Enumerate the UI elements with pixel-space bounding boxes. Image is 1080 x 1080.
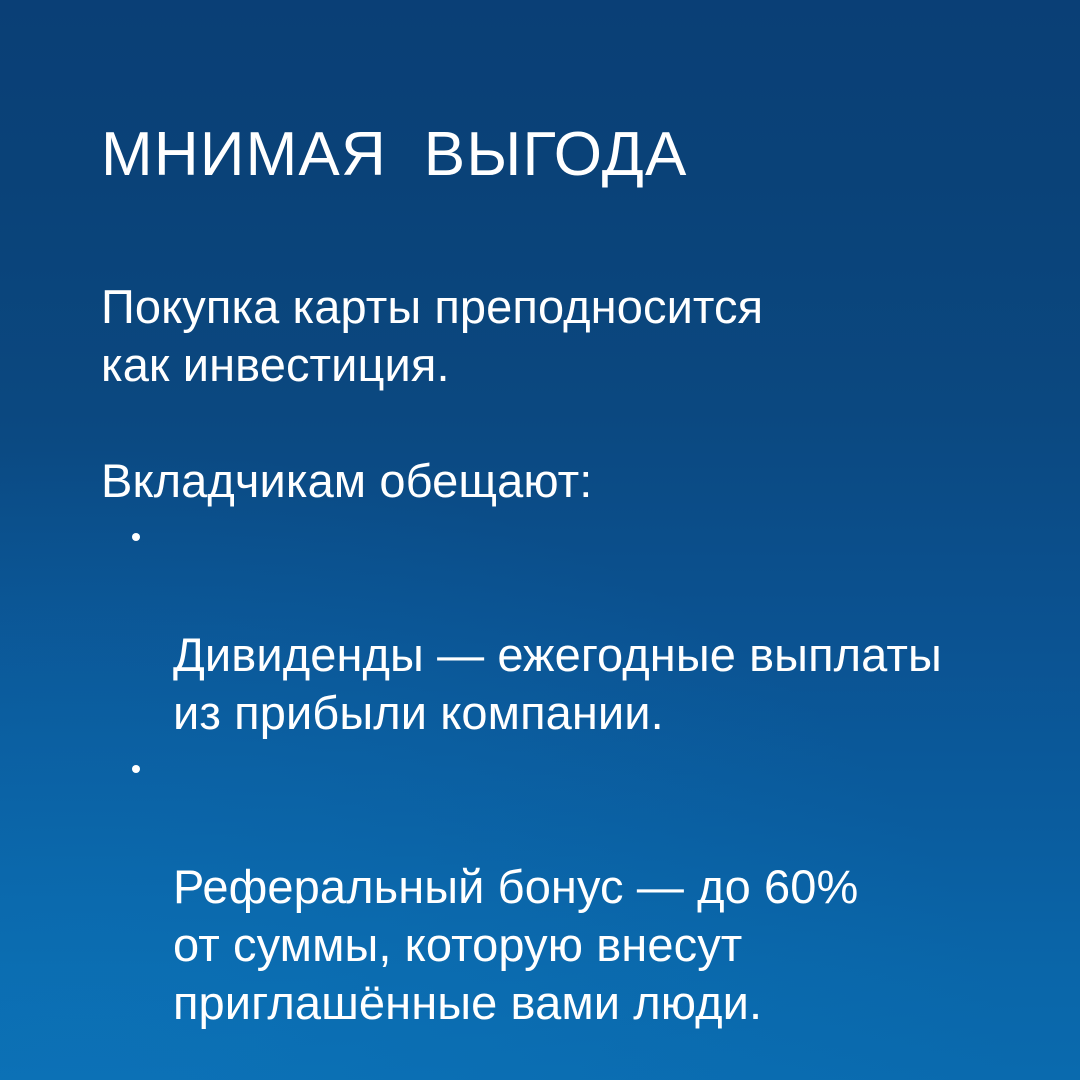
- title-block: МНИМАЯ ВЫГОДА: [101, 124, 1001, 186]
- list-item: Дивиденды — ежегодные выплаты из прибыли…: [101, 510, 1031, 742]
- list-item-text: Дивиденды — ежегодные выплаты из прибыли…: [173, 628, 942, 739]
- list-item-text: Реферальный бонус — до 60% от суммы, кот…: [173, 860, 858, 1029]
- paragraph-spacer: [101, 394, 1031, 452]
- slide-canvas: МНИМАЯ ВЫГОДА Покупка карты преподноситс…: [0, 0, 1080, 1080]
- lead-in-text: Вкладчикам обещают:: [101, 452, 1031, 510]
- bullet-dot-icon: [132, 533, 140, 541]
- promises-list: Дивиденды — ежегодные выплаты из прибыли…: [101, 510, 1031, 1032]
- list-item: Реферальный бонус — до 60% от суммы, кот…: [101, 742, 1031, 1032]
- bullet-dot-icon: [132, 765, 140, 773]
- page-title: МНИМАЯ ВЫГОДА: [101, 124, 1001, 186]
- intro-paragraph: Покупка карты преподносится как инвестиц…: [101, 278, 1031, 394]
- body-content: Покупка карты преподносится как инвестиц…: [101, 278, 1031, 1032]
